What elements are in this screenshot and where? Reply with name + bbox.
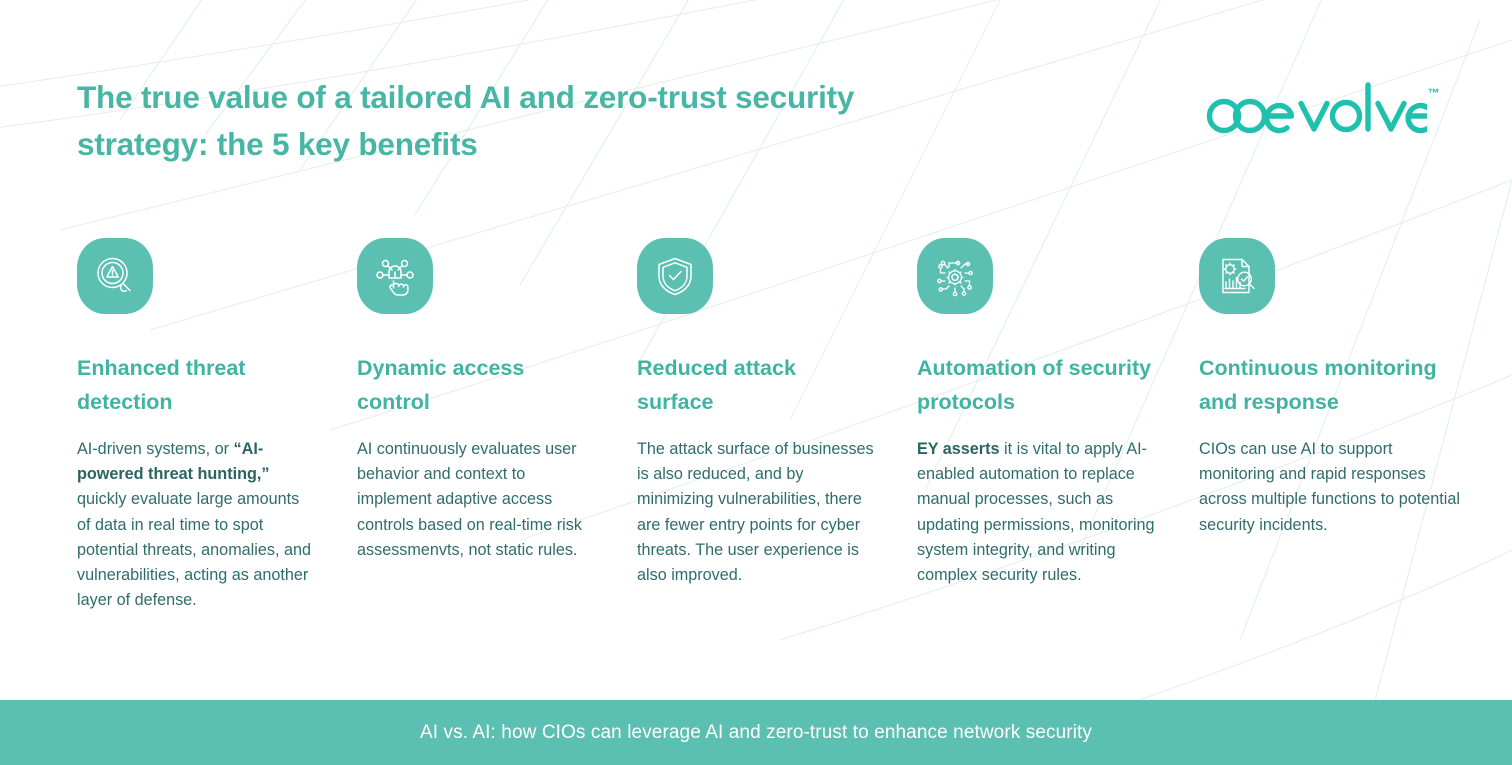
icon-tile-5 [1199,238,1275,314]
benefit-columns: Enhanced threat detection AI-driven syst… [77,238,1447,614]
benefit-title-2: Dynamic access control [357,351,595,420]
benefit-column-4: Automation of security protocols EY asse… [917,238,1199,614]
network-hand-touch-icon [374,255,416,297]
benefit-title-3: Reduced attack surface [637,351,875,420]
benefit-body-2: AI continuously evaluates user behavior … [357,437,595,563]
icon-tile-4 [917,238,993,314]
footer-caption: AI vs. AI: how CIOs can leverage AI and … [420,722,1092,744]
benefit-column-3: Reduced attack surface The attack surfac… [637,238,917,614]
benefit-title-1: Enhanced threat detection [77,351,315,420]
benefit-title-4: Automation of security protocols [917,351,1157,420]
benefit-column-5: Continuous monitoring and response CIOs … [1199,238,1469,614]
document-chart-magnifier-icon [1216,255,1258,297]
icon-tile-1 [77,238,153,314]
benefit-body-1: AI-driven systems, or “AI-powered threat… [77,437,315,614]
benefit-column-2: Dynamic access control AI continuously e… [357,238,637,614]
benefit-body-3: The attack surface of businesses is also… [637,437,875,589]
infographic-page: The true value of a tailored AI and zero… [0,0,1512,765]
coevolve-logo[interactable]: ™ [1202,80,1440,140]
gear-circuit-icon [934,255,976,297]
trademark-symbol: ™ [1428,86,1440,100]
shield-check-icon [654,255,696,297]
magnifier-warning-icon [94,255,136,297]
page-title: The true value of a tailored AI and zero… [77,74,907,167]
benefit-body-5: CIOs can use AI to support monitoring an… [1199,437,1469,538]
benefit-body-4: EY asserts it is vital to apply AI-enabl… [917,437,1157,589]
icon-tile-2 [357,238,433,314]
benefit-column-1: Enhanced threat detection AI-driven syst… [77,238,357,614]
header: The true value of a tailored AI and zero… [0,0,1512,200]
benefit-title-5: Continuous monitoring and response [1199,351,1469,420]
coevolve-wordmark-icon [1202,80,1427,140]
icon-tile-3 [637,238,713,314]
footer-banner: AI vs. AI: how CIOs can leverage AI and … [0,700,1512,765]
